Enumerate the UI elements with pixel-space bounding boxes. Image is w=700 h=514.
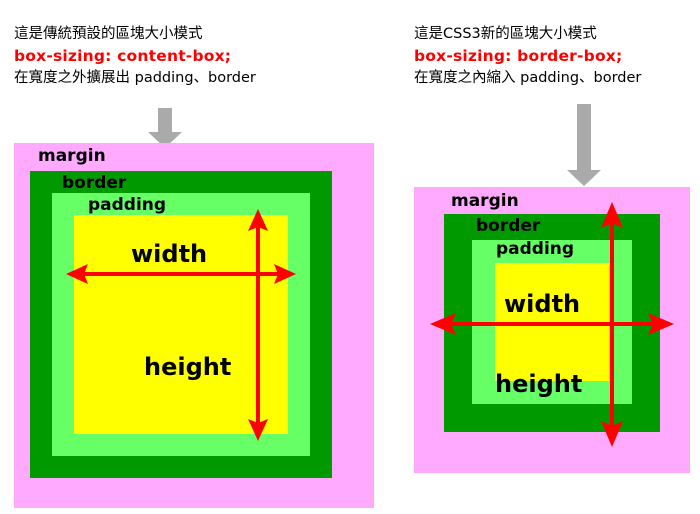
arrow-shaft [158,108,172,134]
content-box-caption: 這是傳統預設的區塊大小模式 box-sizing: content-box; 在… [14,23,256,89]
caption-line-1: 這是CSS3新的區塊大小模式 [414,23,641,45]
content-box-panel: 這是傳統預設的區塊大小模式 box-sizing: content-box; 在… [0,0,390,514]
down-arrow-icon [566,104,602,188]
border-box-panel: 這是CSS3新的區塊大小模式 box-sizing: border-box; 在… [400,0,700,514]
padding-label: padding [88,196,166,214]
padding-label: padding [496,240,574,258]
height-measure-arrow [601,202,623,447]
arrow-head [567,170,601,186]
width-measure-label: width [504,290,580,318]
border-label: border [62,174,126,192]
caption-code-line: box-sizing: content-box; [14,45,256,67]
caption-code-line: box-sizing: border-box; [414,45,641,67]
down-arrow-icon [147,108,183,148]
width-measure-label: width [131,240,207,268]
content-box-diagram: margin border padding width height [14,143,374,508]
height-measure-arrow [247,209,269,441]
caption-line-3: 在寬度之內縮入 padding、border [414,67,641,89]
border-box-caption: 這是CSS3新的區塊大小模式 box-sizing: border-box; 在… [414,23,641,89]
border-box-diagram: margin border padding width height [414,187,690,473]
arrow-shaft [577,104,591,172]
margin-label: margin [451,192,519,210]
border-label: border [476,217,540,235]
height-measure-label: height [144,353,231,381]
caption-line-3: 在寬度之外擴展出 padding、border [14,67,256,89]
caption-line-1: 這是傳統預設的區塊大小模式 [14,23,256,45]
height-measure-label: height [495,370,582,398]
margin-label: margin [38,147,106,165]
